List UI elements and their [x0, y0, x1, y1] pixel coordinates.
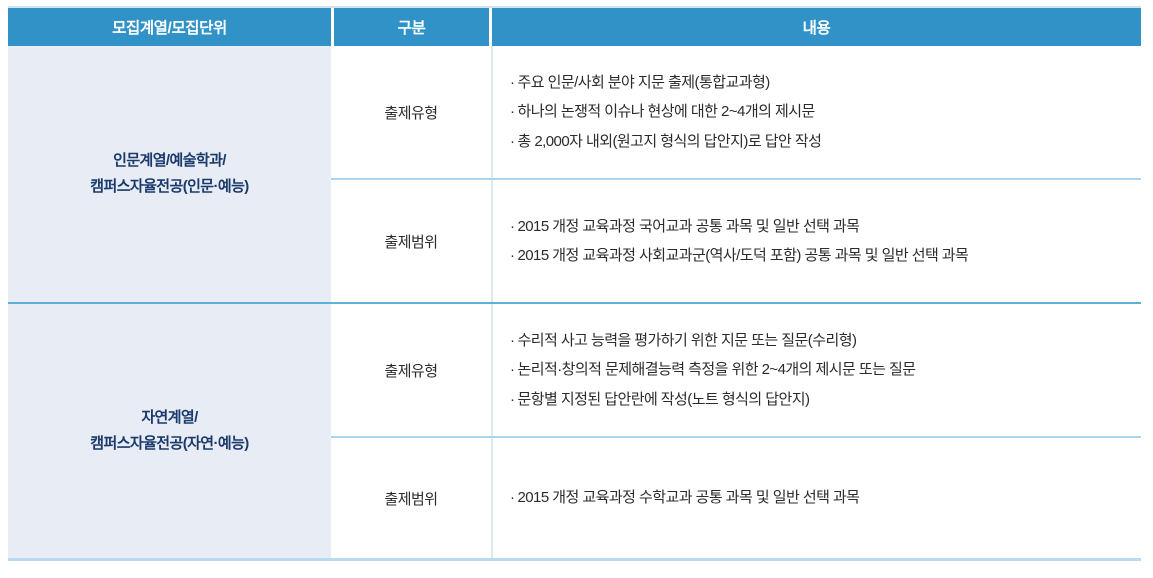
content-bullet-text: 하나의 논쟁적 이슈나 현상에 대한 2~4개의 제시문	[517, 103, 814, 120]
content-cell: ·2015 개정 교육과정 국어교과 공통 과목 및 일반 선택 과목 ·201…	[493, 180, 1141, 302]
content-bullet-item: ·수리적 사고 능력을 평가하기 위한 지문 또는 질문(수리형)	[510, 326, 1135, 355]
content-bullet-item: ·2015 개정 교육과정 국어교과 공통 과목 및 일반 선택 과목	[510, 212, 1135, 241]
unit-label-line: 자연계열/	[8, 405, 331, 431]
table-row: 출제유형 ·수리적 사고 능력을 평가하기 위한 지문 또는 질문(수리형) ·…	[331, 304, 1141, 438]
table-row: 출제범위 ·2015 개정 교육과정 수학교과 공통 과목 및 일반 선택 과목	[331, 438, 1141, 558]
table-row: 출제유형 ·주요 인문/사회 분야 지문 출제(통합교과형) ·하나의 논쟁적 …	[331, 46, 1141, 180]
table-row: 출제범위 ·2015 개정 교육과정 국어교과 공통 과목 및 일반 선택 과목…	[331, 180, 1141, 302]
group-rows: 출제유형 ·수리적 사고 능력을 평가하기 위한 지문 또는 질문(수리형) ·…	[331, 304, 1141, 558]
table-header-row: 모집계열/모집단위 구분 내용	[8, 6, 1141, 46]
division-cell: 출제유형	[331, 46, 493, 178]
content-bullet-text: 수리적 사고 능력을 평가하기 위한 지문 또는 질문(수리형)	[517, 332, 856, 349]
content-bullet-text: 2015 개정 교육과정 수학교과 공통 과목 및 일반 선택 과목	[517, 489, 859, 506]
division-cell: 출제유형	[331, 304, 493, 436]
column-header-content-label: 내용	[803, 16, 831, 38]
content-cell: ·주요 인문/사회 분야 지문 출제(통합교과형) ·하나의 논쟁적 이슈나 현…	[493, 46, 1141, 178]
content-bullet-text: 문항별 지정된 답안란에 작성(노트 형식의 답안지)	[517, 391, 809, 408]
table-group: 인문계열/예술학과/ 캠퍼스자율전공(인문·예능) 출제유형 ·주요 인문/사회…	[8, 46, 1141, 304]
unit-label-line: 캠퍼스자율전공(인문·예능)	[8, 174, 331, 200]
content-bullet-text: 2015 개정 교육과정 사회교과군(역사/도덕 포함) 공통 과목 및 일반 …	[517, 247, 968, 264]
column-header-unit-label: 모집계열/모집단위	[112, 16, 227, 38]
admissions-table: 모집계열/모집단위 구분 내용 인문계열/예술학과/ 캠퍼스자율전공(인문·예능…	[8, 0, 1141, 561]
column-header-content: 내용	[492, 8, 1141, 46]
content-bullet-item: ·2015 개정 교육과정 사회교과군(역사/도덕 포함) 공통 과목 및 일반…	[510, 241, 1135, 270]
column-header-unit: 모집계열/모집단위	[8, 8, 331, 46]
unit-cell: 자연계열/ 캠퍼스자율전공(자연·예능)	[8, 304, 331, 558]
division-label: 출제유형	[384, 360, 437, 381]
unit-label-line: 캠퍼스자율전공(자연·예능)	[8, 431, 331, 457]
content-bullet-text: 2015 개정 교육과정 국어교과 공통 과목 및 일반 선택 과목	[517, 218, 859, 235]
content-bullet-text: 논리적·창의적 문제해결능력 측정을 위한 2~4개의 제시문 또는 질문	[517, 361, 915, 378]
division-cell: 출제범위	[331, 438, 493, 558]
content-bullet-item: ·2015 개정 교육과정 수학교과 공통 과목 및 일반 선택 과목	[510, 483, 1135, 512]
content-bullet-item: ·주요 인문/사회 분야 지문 출제(통합교과형)	[510, 68, 1135, 97]
content-bullet-text: 주요 인문/사회 분야 지문 출제(통합교과형)	[517, 74, 769, 91]
column-header-division-label: 구분	[398, 16, 426, 38]
unit-cell: 인문계열/예술학과/ 캠퍼스자율전공(인문·예능)	[8, 46, 331, 302]
content-bullet-item: ·논리적·창의적 문제해결능력 측정을 위한 2~4개의 제시문 또는 질문	[510, 355, 1135, 384]
division-cell: 출제범위	[331, 180, 493, 302]
division-label: 출제범위	[384, 488, 437, 509]
table-body: 인문계열/예술학과/ 캠퍼스자율전공(인문·예능) 출제유형 ·주요 인문/사회…	[8, 46, 1141, 561]
division-label: 출제유형	[384, 102, 437, 123]
table-group: 자연계열/ 캠퍼스자율전공(자연·예능) 출제유형 ·수리적 사고 능력을 평가…	[8, 304, 1141, 561]
content-cell: ·2015 개정 교육과정 수학교과 공통 과목 및 일반 선택 과목	[493, 438, 1141, 558]
content-cell: ·수리적 사고 능력을 평가하기 위한 지문 또는 질문(수리형) ·논리적·창…	[493, 304, 1141, 436]
content-bullet-item: ·문항별 지정된 답안란에 작성(노트 형식의 답안지)	[510, 385, 1135, 414]
division-label: 출제범위	[384, 231, 437, 252]
group-rows: 출제유형 ·주요 인문/사회 분야 지문 출제(통합교과형) ·하나의 논쟁적 …	[331, 46, 1141, 302]
unit-label-line: 인문계열/예술학과/	[8, 148, 331, 174]
content-bullet-text: 총 2,000자 내외(원고지 형식의 답안지)로 답안 작성	[517, 133, 821, 150]
content-bullet-item: ·총 2,000자 내외(원고지 형식의 답안지)로 답안 작성	[510, 127, 1135, 156]
content-bullet-item: ·하나의 논쟁적 이슈나 현상에 대한 2~4개의 제시문	[510, 97, 1135, 126]
column-header-division: 구분	[334, 8, 489, 46]
